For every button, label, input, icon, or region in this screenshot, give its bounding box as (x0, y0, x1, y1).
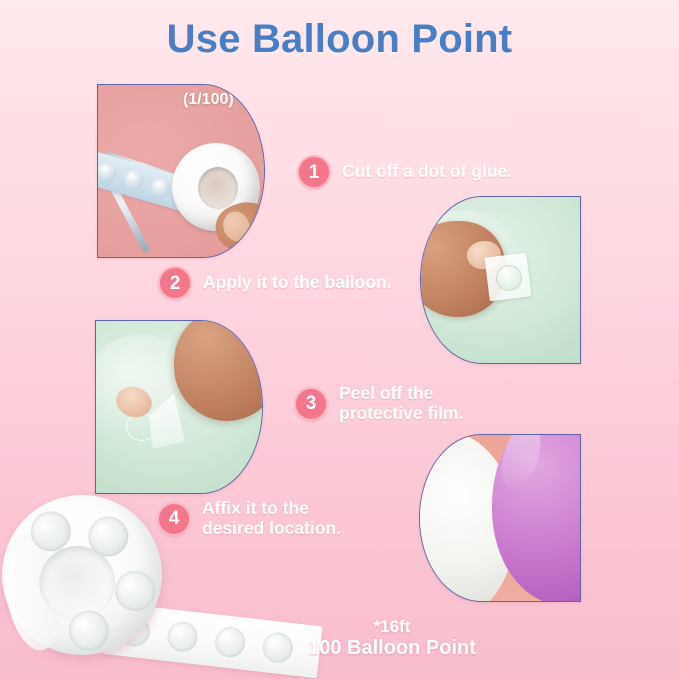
caption-quantity: 100 Balloon Point (232, 637, 552, 661)
step-3: 3 Peel off the protective film. (294, 384, 463, 424)
photo-1-content (98, 85, 264, 257)
photo-hand-peeling-protective-film (95, 320, 263, 494)
step-1: 1 Cut off a dot of glue. (297, 155, 512, 189)
glue-dot (97, 161, 119, 185)
step-1-label: Cut off a dot of glue. (342, 162, 512, 182)
fraction-label: (1/100) (183, 91, 234, 109)
photo-white-and-purple-balloons (419, 434, 581, 602)
caption-length: *16ft (232, 617, 552, 637)
step-3-number: 3 (294, 387, 328, 421)
page-title: Use Balloon Point (0, 17, 679, 62)
product-infographic: Use Balloon Point (1/100) (0, 0, 679, 679)
photo-4-content (420, 435, 580, 601)
step-3-label: Peel off the protective film. (339, 384, 463, 424)
glue-dot (122, 169, 146, 193)
photo-3-content (96, 321, 262, 493)
photo-2-content (421, 197, 580, 363)
step-1-number: 1 (297, 155, 331, 189)
step-2-label: Apply it to the balloon. (203, 273, 392, 293)
glue-dot (166, 620, 199, 653)
step-2-number: 2 (158, 266, 192, 300)
glue-dot-sticker (484, 253, 531, 302)
glue-dot (149, 176, 173, 200)
photo-glue-dot-roll-with-scissors: (1/100) (97, 84, 265, 258)
step-2: 2 Apply it to the balloon. (158, 266, 392, 300)
product-caption: *16ft 100 Balloon Point (232, 617, 552, 661)
photo-hand-holding-glue-dot-sticker (420, 196, 581, 364)
glue-dot (112, 568, 158, 614)
